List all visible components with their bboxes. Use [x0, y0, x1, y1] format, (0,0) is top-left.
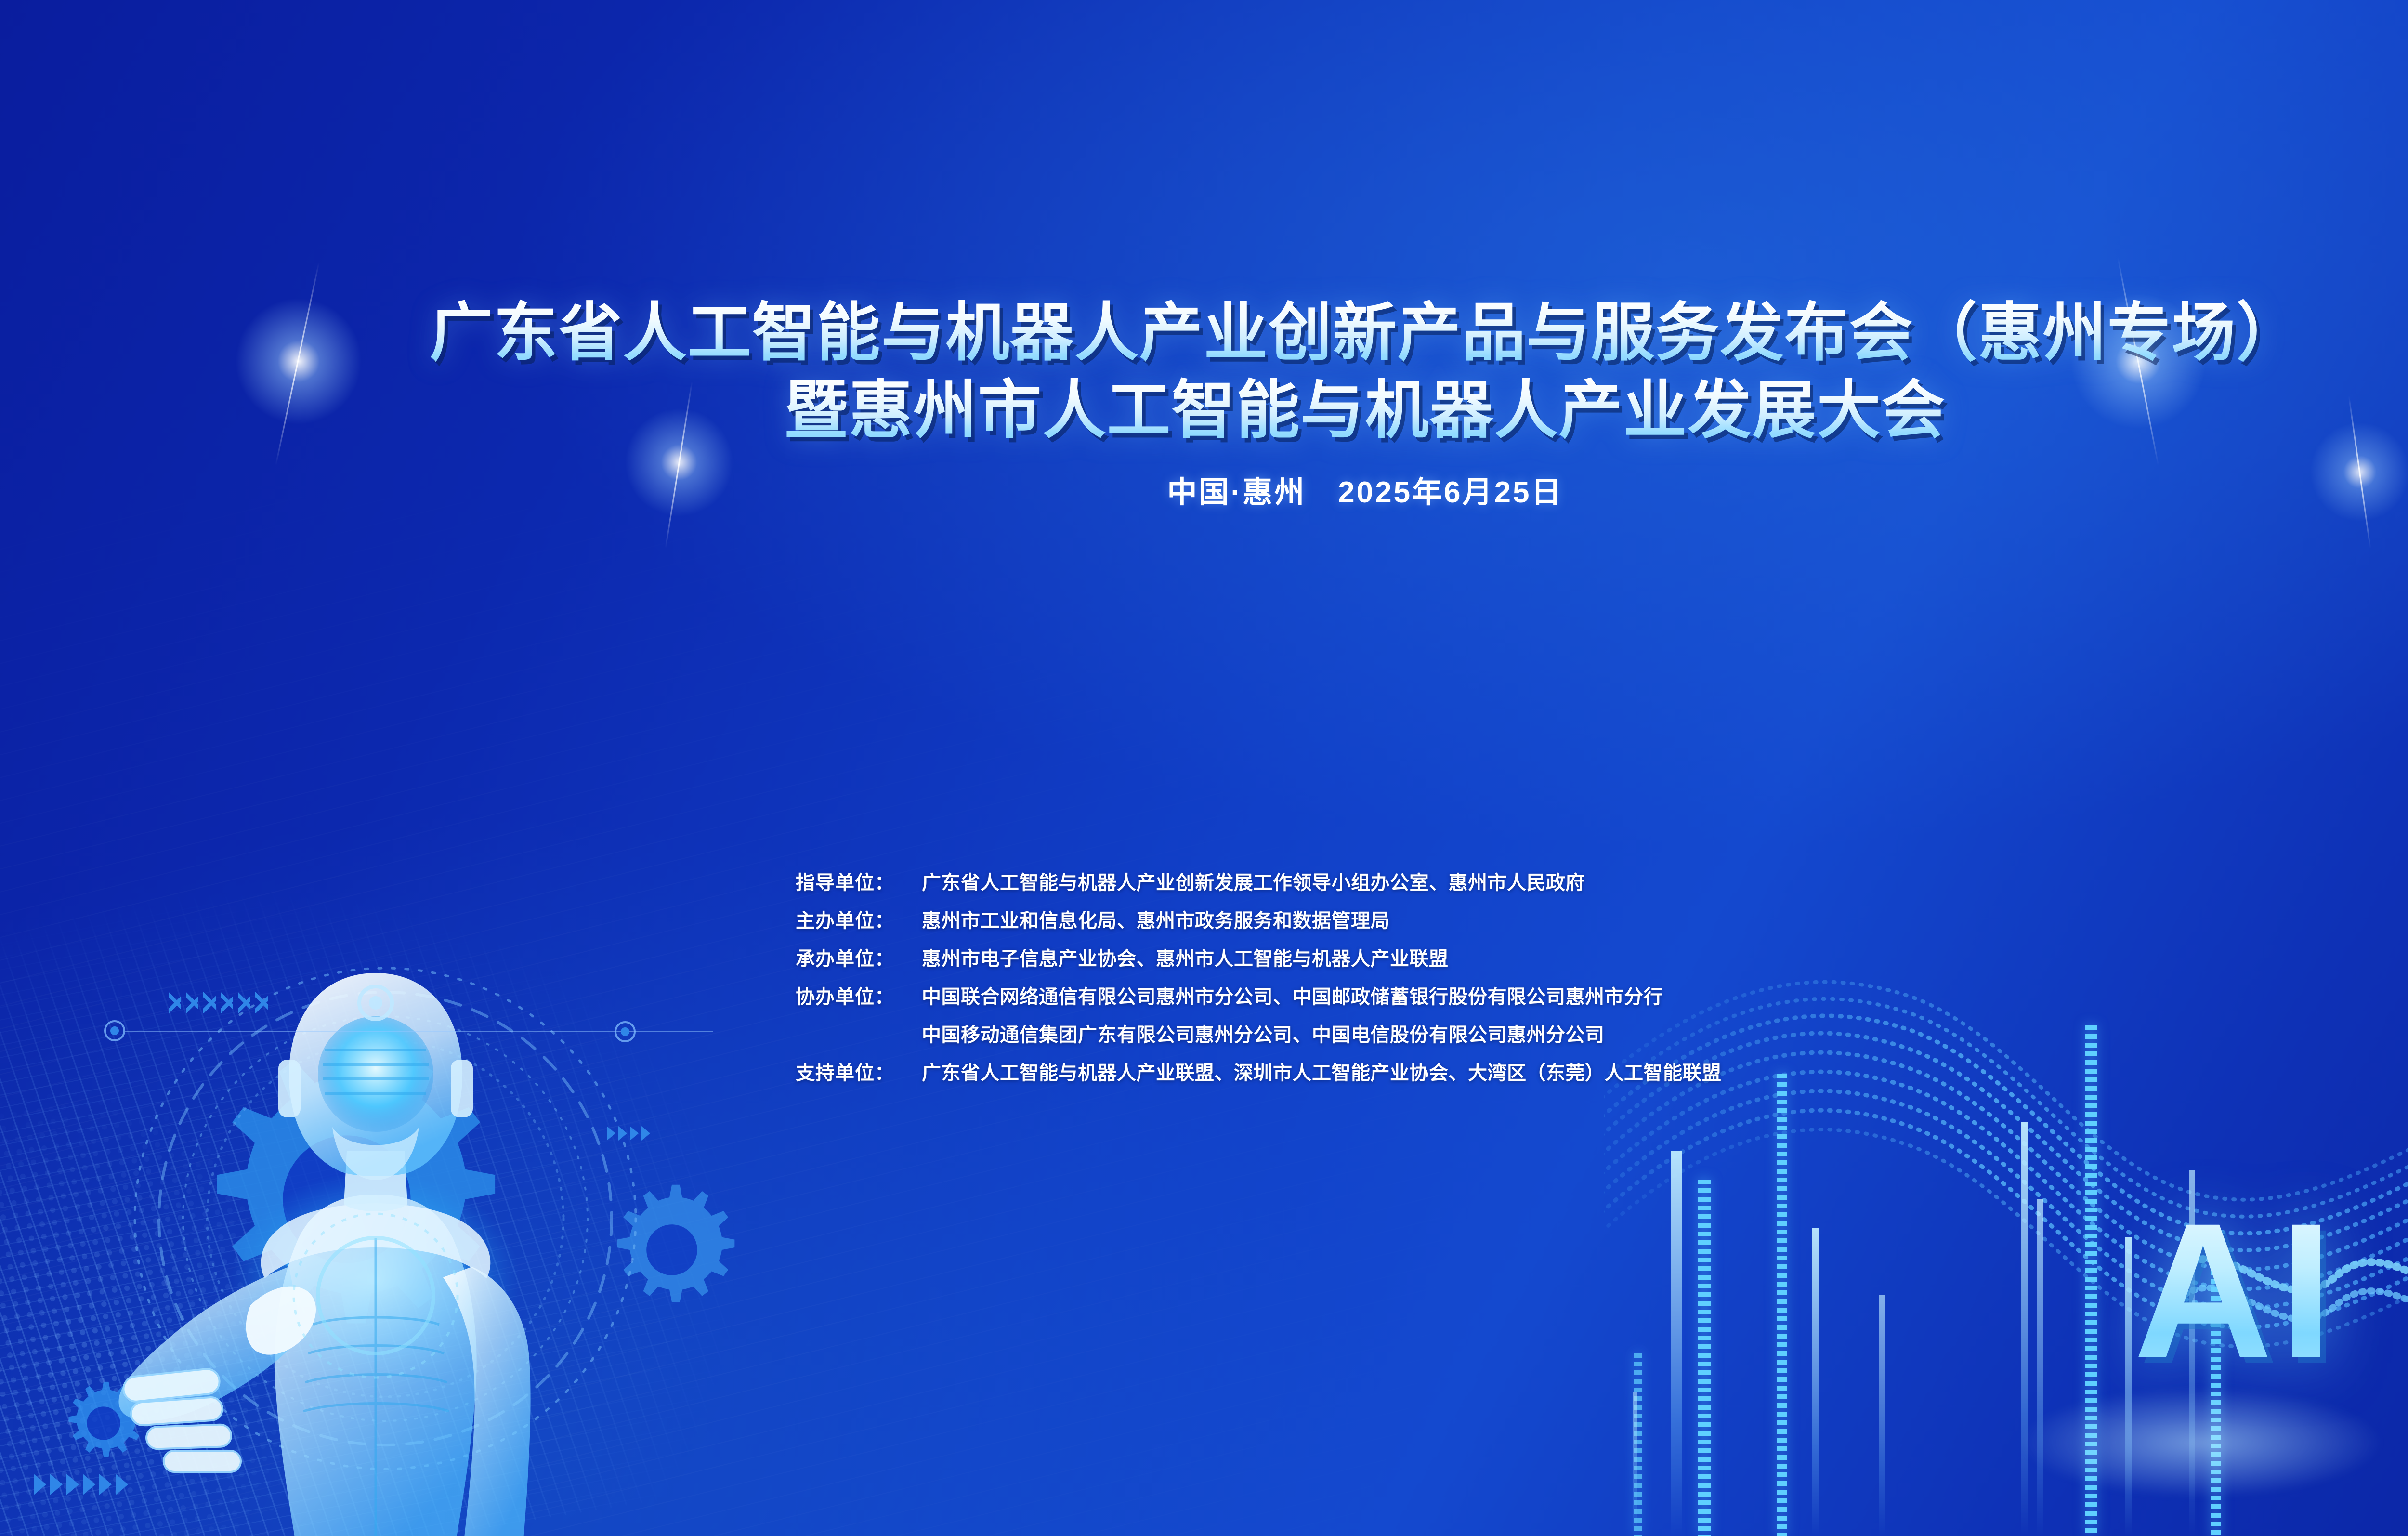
organizer-list: 指导单位： 广东省人工智能与机器人产业创新发展工作领导小组办公室、惠州市人民政府… [796, 867, 1722, 1095]
organizer-label: 协办单位： [796, 981, 922, 1009]
chevron-arrows-decor [169, 992, 268, 1013]
organizer-value: 中国移动通信集团广东有限公司惠州分公司、中国电信股份有限公司惠州分公司 [922, 1019, 1605, 1047]
chevron-right-icon [607, 1126, 615, 1141]
conference-banner: AI [0, 0, 2408, 1536]
chevron-right-icon [641, 1126, 650, 1141]
chevron-right-icon [116, 1474, 128, 1495]
chevron-right-icon [203, 992, 216, 1013]
organizer-row: 支持单位： 广东省人工智能与机器人产业联盟、深圳市人工智能产业协会、大湾区（东莞… [796, 1057, 1722, 1095]
organizer-label: 主办单位： [796, 905, 922, 933]
organizer-value: 中国联合网络通信有限公司惠州市分公司、中国邮政储蓄银行股份有限公司惠州市分行 [922, 981, 1663, 1009]
page-title-line-2: 暨惠州市人工智能与机器人产业发展大会 [0, 376, 2408, 445]
organizer-row-continuation: 中国移动通信集团广东有限公司惠州分公司、中国电信股份有限公司惠州分公司 [796, 1019, 1722, 1057]
organizer-label: 承办单位： [796, 943, 922, 971]
node-dot-icon [104, 1020, 125, 1041]
glow-bar [1812, 1228, 1819, 1536]
glow-bar [1879, 1295, 1885, 1536]
chevron-right-icon [66, 1474, 79, 1495]
chevron-right-icon [186, 992, 198, 1013]
chevron-arrows-decor [34, 1474, 128, 1495]
chevron-right-icon [83, 1474, 95, 1495]
equalizer-bar [1698, 1180, 1711, 1536]
chevron-right-icon [34, 1474, 46, 1495]
subtitle-location-date: 中国·惠州 2025年6月25日 [0, 468, 2408, 511]
chevron-right-icon [238, 992, 250, 1013]
ai-logo: AI [2133, 1195, 2340, 1387]
robot-illustration [72, 901, 771, 1536]
glow-bar [1671, 1151, 1682, 1536]
chevron-right-icon [630, 1126, 639, 1141]
organizer-row: 承办单位： 惠州市电子信息产业协会、惠州市人工智能与机器人产业联盟 [796, 943, 1722, 981]
equalizer-bar [1777, 1074, 1787, 1536]
organizer-value: 广东省人工智能与机器人产业联盟、深圳市人工智能产业协会、大湾区（东莞）人工智能联… [922, 1057, 1722, 1085]
chevron-arrows-decor [607, 1126, 650, 1141]
chevron-right-icon [255, 992, 268, 1013]
organizer-label: 指导单位： [796, 867, 922, 895]
ai-logo-glow [2018, 1387, 2384, 1498]
title-block: 广东省人工智能与机器人产业创新产品与服务发布会（惠州专场） 暨惠州市人工智能与机… [0, 299, 2408, 511]
chevron-right-icon [221, 992, 233, 1013]
organizer-row: 主办单位： 惠州市工业和信息化局、惠州市政务服务和数据管理局 [796, 905, 1722, 943]
organizer-label: 支持单位： [796, 1057, 922, 1085]
organizer-row: 指导单位： 广东省人工智能与机器人产业创新发展工作领导小组办公室、惠州市人民政府 [796, 867, 1722, 905]
glow-bar [1633, 1392, 1637, 1536]
node-dot-icon [615, 1021, 636, 1042]
page-title-line-1: 广东省人工智能与机器人产业创新产品与服务发布会（惠州专场） [0, 299, 2408, 368]
chevron-right-icon [618, 1126, 627, 1141]
organizer-value: 广东省人工智能与机器人产业创新发展工作领导小组办公室、惠州市人民政府 [922, 867, 1585, 895]
chevron-right-icon [99, 1474, 112, 1495]
organizer-row: 协办单位： 中国联合网络通信有限公司惠州市分公司、中国邮政储蓄银行股份有限公司惠… [796, 981, 1722, 1019]
organizer-value: 惠州市工业和信息化局、惠州市政务服务和数据管理局 [922, 905, 1390, 933]
chevron-right-icon [50, 1474, 63, 1495]
chevron-right-icon [169, 992, 181, 1013]
organizer-value: 惠州市电子信息产业协会、惠州市人工智能与机器人产业联盟 [922, 943, 1449, 971]
